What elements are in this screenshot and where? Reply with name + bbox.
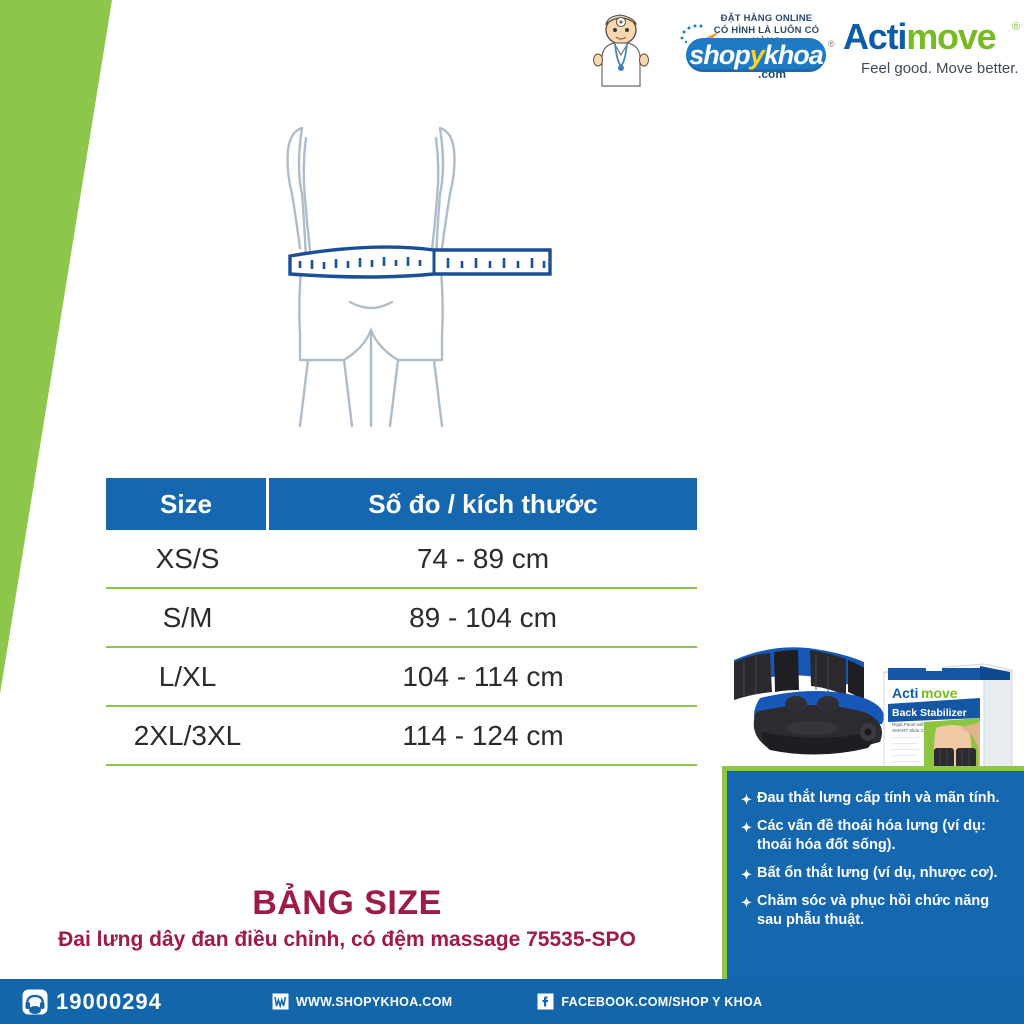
actimove-move: move <box>906 16 995 57</box>
shopykhoa-dotcom: .com <box>758 67 786 81</box>
indications-list: ✦ Đau thắt lưng cấp tính và mãn tính. ✦ … <box>727 771 1024 930</box>
footer-website-label: WWW.SHOPYKHOA.COM <box>296 995 452 1009</box>
list-item-label: Các vấn đề thoái hóa lưng (ví dụ: thoái … <box>757 818 986 853</box>
svg-text:move: move <box>921 685 958 701</box>
shopykhoa-wordmark: shopykhoa <box>686 38 826 72</box>
shopykhoa-logo: ĐẶT HÀNG ONLINE CÓ HÌNH LÀ LUÔN CÓ HÀNG … <box>660 9 835 89</box>
footer-website-link[interactable]: WWW.SHOPYKHOA.COM <box>272 993 452 1010</box>
infographic-canvas: ĐẶT HÀNG ONLINE CÓ HÌNH LÀ LUÔN CÓ HÀNG … <box>0 0 1024 1024</box>
cell-measurement: 104 - 114 cm <box>269 648 697 705</box>
list-item: ✦ Chăm sóc và phục hồi chức năng sau phẫ… <box>739 892 1010 930</box>
table-header-measurement: Số đo / kích thước <box>269 478 697 530</box>
page-title: BẢNG SIZE <box>0 884 694 923</box>
table-row: L/XL 104 - 114 cm <box>106 648 697 707</box>
wordmark-y: y <box>750 40 764 71</box>
cell-size: 2XL/3XL <box>106 707 269 764</box>
list-item-label: Bất ổn thắt lưng (ví dụ, nhược cơ). <box>757 865 998 881</box>
list-item-label: Đau thắt lưng cấp tính và mãn tính. <box>757 790 1000 806</box>
footer-facebook-label: FACEBOOK.COM/SHOP Y KHOA <box>561 995 762 1009</box>
footer-facebook-link[interactable]: FACEBOOK.COM/SHOP Y KHOA <box>537 993 762 1010</box>
actimove-registered-mark: ® <box>1012 21 1020 33</box>
support-headset-icon <box>22 989 48 1015</box>
table-header-size: Size <box>106 478 269 530</box>
tagline-line-1: ĐẶT HÀNG ONLINE <box>698 13 835 25</box>
cell-measurement: 74 - 89 cm <box>269 530 697 587</box>
list-item: ✦ Đau thắt lưng cấp tính và mãn tính. <box>739 789 1010 808</box>
facebook-icon <box>537 993 554 1010</box>
waist-measurement-figure <box>272 98 568 428</box>
table-row: S/M 89 - 104 cm <box>106 589 697 648</box>
table-row: XS/S 74 - 89 cm <box>106 530 697 589</box>
shopykhoa-registered-mark: ® <box>828 39 835 49</box>
list-item: ✦ Các vấn đề thoái hóa lưng (ví dụ: thoá… <box>739 817 1010 855</box>
actimove-logo: Actimove ® Feel good. Move better. <box>843 12 1024 86</box>
bullet-icon: ✦ <box>741 865 752 884</box>
bullet-icon: ✦ <box>741 818 752 837</box>
bullet-icon: ✦ <box>741 893 752 912</box>
svg-text:Back Stabilizer: Back Stabilizer <box>892 707 967 719</box>
cell-measurement: 89 - 104 cm <box>269 589 697 646</box>
footer-bar: 19000294 WWW.SHOPYKHOA.COM FACEBOOK.COM/… <box>0 979 1024 1024</box>
indications-panel: ✦ Đau thắt lưng cấp tính và mãn tính. ✦ … <box>722 766 1024 979</box>
header-logos: ĐẶT HÀNG ONLINE CÓ HÌNH LÀ LUÔN CÓ HÀNG … <box>590 6 1020 92</box>
actimove-acti: Acti <box>843 16 906 57</box>
wordmark-khoa: khoa <box>764 40 823 71</box>
list-item-label: Chăm sóc và phục hồi chức năng sau phẫu … <box>757 893 989 928</box>
footer-phone-number: 19000294 <box>56 989 162 1015</box>
footer-phone[interactable]: 19000294 <box>22 989 162 1015</box>
cell-size: L/XL <box>106 648 269 705</box>
table-row: 2XL/3XL 114 - 124 cm <box>106 707 697 766</box>
svg-text:Acti: Acti <box>892 685 918 701</box>
wordmark-shop: shop <box>689 40 750 71</box>
actimove-wordmark: Actimove <box>843 16 995 58</box>
website-icon <box>272 993 289 1010</box>
page-subtitle: Đai lưng dây đan điều chỉnh, có đệm mass… <box>0 928 694 952</box>
bullet-icon: ✦ <box>741 790 752 809</box>
cell-size: XS/S <box>106 530 269 587</box>
actimove-tagline: Feel good. Move better. <box>861 60 1019 77</box>
doctor-mascot-icon <box>590 10 652 88</box>
product-images: Acti move Back Stabilizer Rigid Panel wi… <box>712 636 1024 786</box>
cell-size: S/M <box>106 589 269 646</box>
back-brace-lower <box>754 691 884 755</box>
table-header-row: Size Số đo / kích thước <box>106 478 697 530</box>
size-table: Size Số đo / kích thước XS/S 74 - 89 cm … <box>106 478 697 766</box>
cell-measurement: 114 - 124 cm <box>269 707 697 764</box>
list-item: ✦ Bất ổn thắt lưng (ví dụ, nhược cơ). <box>739 864 1010 883</box>
